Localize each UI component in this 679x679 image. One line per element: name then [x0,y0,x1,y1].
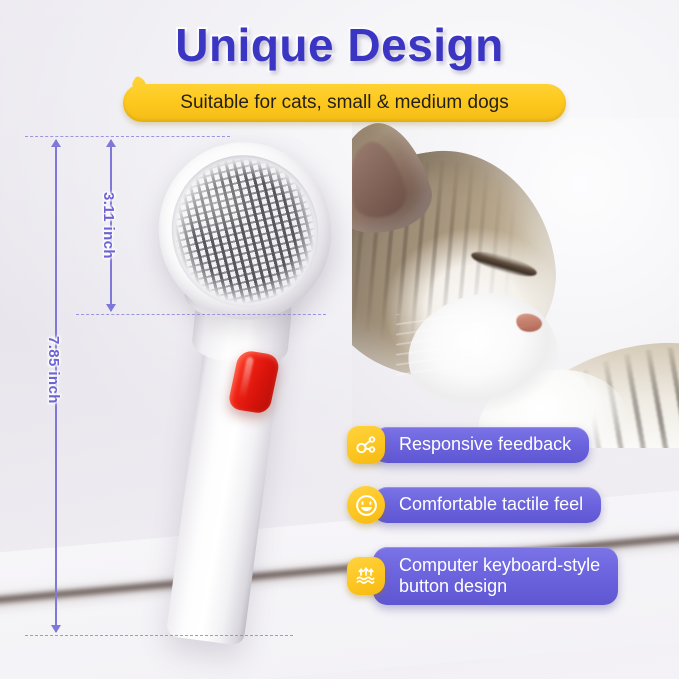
smiley-face-icon [347,486,385,524]
feature-keyboard-style-button: Computer keyboard-style button design [347,547,618,605]
feature-label: Responsive feedback [399,434,571,455]
brush-head-pad [138,122,352,341]
arrows-up-waves-icon [347,557,385,595]
feature-pill-keyboard: Computer keyboard-style button design [373,547,618,605]
product-infographic: 3.11 inch 7.85 inch Unique Design Suitab… [0,0,679,679]
guide-line-top [25,136,230,137]
subtitle-banner: Suitable for cats, small & medium dogs [123,84,566,122]
feature-comfortable-tactile-feel: Comfortable tactile feel [347,486,601,524]
page-title: Unique Design [0,18,679,72]
guide-line-mid [76,314,326,315]
dimension-label-total: 7.85 inch [45,336,62,404]
feature-label: Comfortable tactile feel [399,494,583,515]
share-nodes-icon [347,426,385,464]
feature-label: Computer keyboard-style button design [399,555,600,597]
dimension-label-head: 3.11 inch [100,192,117,259]
brush-pins-highlight [154,138,336,324]
feature-responsive-feedback: Responsive feedback [347,426,589,464]
feature-pill-responsive: Responsive feedback [373,427,589,462]
brush-head-inner [154,138,336,324]
guide-line-bottom [25,635,293,636]
subtitle-banner-label: Suitable for cats, small & medium dogs [180,92,508,114]
feature-pill-comfortable: Comfortable tactile feel [373,487,601,522]
